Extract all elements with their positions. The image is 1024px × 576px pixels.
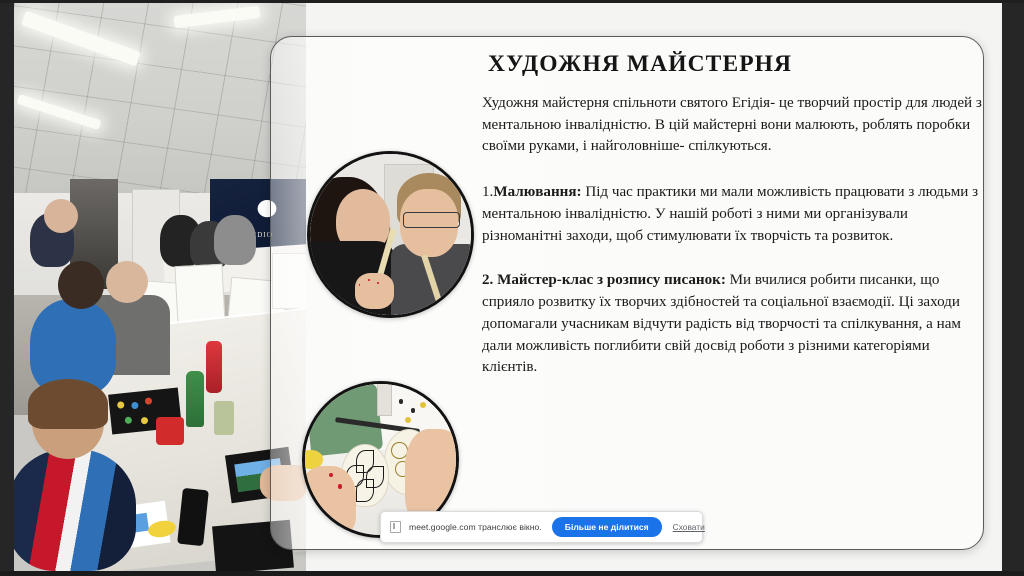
presentation-slide: SANT'EGIDIO [14, 3, 1002, 571]
section-heading-2: Майстер-клас з розпису писанок: [497, 272, 726, 288]
photo-paint-dot [131, 402, 139, 410]
window-frame-left [0, 0, 14, 576]
photo-bottle [186, 371, 204, 427]
two-people-painting-photo [307, 151, 474, 318]
circle-photo-hand [355, 273, 394, 308]
photo-paint-dot [117, 401, 125, 409]
photo-person-hair [28, 379, 108, 429]
circle-photo-nail [359, 284, 361, 286]
photo-person [44, 199, 78, 233]
circle-photo-nail [368, 279, 370, 281]
intro-paragraph: Художня майстерня спільноти святого Егід… [482, 93, 982, 158]
section-number-1: 1. [482, 184, 493, 200]
photo-paint-dot [145, 397, 153, 405]
stop-sharing-button[interactable]: Більше не ділитися [552, 517, 662, 537]
circle-photo-nail [329, 473, 333, 477]
circle-photo-dot [411, 408, 416, 413]
photo-person [214, 215, 256, 265]
circle-photo-nail [338, 484, 342, 488]
photo-person-head [106, 261, 148, 303]
photo-bottle [206, 341, 222, 393]
screen-share-notification-bar: meet.google.com транслює вікно. Більше н… [380, 511, 703, 543]
egg-petal-motif [356, 479, 374, 502]
hide-notification-link[interactable]: Сховати [673, 522, 705, 532]
circle-photo-dot [399, 399, 404, 404]
section-paragraph-1: 1.Малювання: Під час практики ми мали мо… [482, 182, 982, 247]
circle-photo-nail [377, 282, 379, 284]
photo-cup [214, 401, 234, 435]
screen-share-icon [390, 521, 401, 533]
window-frame-top [0, 0, 1024, 3]
window-frame-right [1002, 0, 1024, 576]
photo-paint-dot [141, 417, 149, 425]
section-paragraph-2: 2. Майстер-клас з розпису писанок: Ми вч… [482, 270, 982, 379]
slide-text-column: ХУДОЖНЯ МАЙСТЕРНЯ Художня майстерня спіл… [482, 51, 982, 403]
page-title: ХУДОЖНЯ МАЙСТЕРНЯ [488, 51, 982, 78]
circle-photo-dot [420, 402, 426, 408]
circle-photo-glasses [403, 212, 460, 228]
photo-person-head [58, 261, 104, 309]
window-frame-bottom [0, 571, 1024, 576]
photo-paint-dot [125, 416, 133, 424]
circle-photo-hand [302, 466, 356, 538]
circle-photo-dot [405, 417, 411, 423]
screen-share-message: meet.google.com транслює вікно. [409, 522, 542, 532]
section-number-2: 2. [482, 272, 497, 288]
section-heading-1: Малювання: [493, 184, 581, 200]
art-workshop-room-photo: SANT'EGIDIO [14, 3, 306, 571]
screenshot-root: SANT'EGIDIO [0, 0, 1024, 576]
photo-person [14, 449, 136, 571]
circle-photo-tool [377, 381, 391, 416]
photo-cup [156, 417, 184, 445]
